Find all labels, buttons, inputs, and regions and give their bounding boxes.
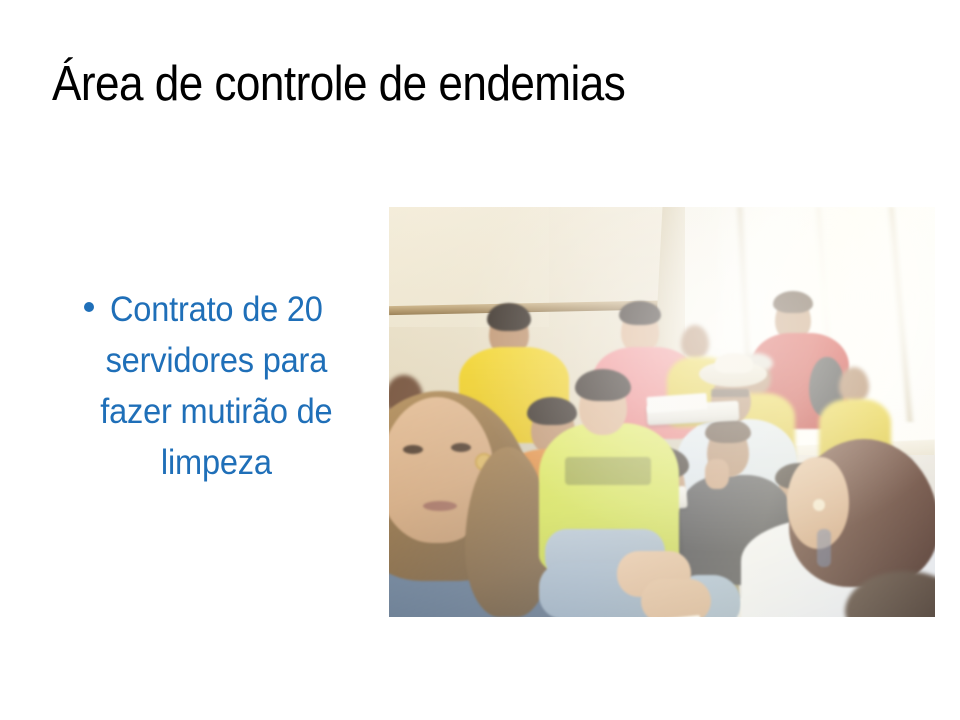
person-hair	[773, 291, 813, 313]
eyeglasses	[711, 389, 749, 397]
person-hair	[575, 369, 631, 401]
person-mouth	[423, 501, 457, 511]
person-eye	[403, 445, 423, 454]
earring	[813, 499, 825, 511]
person-hair	[705, 419, 751, 443]
person-hair	[527, 397, 577, 425]
person-head	[681, 325, 709, 359]
shirt-graphic	[565, 457, 651, 485]
person-head	[839, 367, 869, 403]
content-placeholder: Contrato de 20 servidores para fazer mut…	[48, 284, 368, 488]
person-hair	[487, 303, 531, 331]
straw-hat-crown	[715, 353, 753, 373]
page-title: Área de controle de endemias	[52, 55, 826, 113]
person-eye	[451, 443, 471, 452]
collar-trim	[817, 529, 831, 567]
bullet-text: Contrato de 20 servidores para fazer mut…	[59, 284, 357, 488]
person-hand	[705, 459, 729, 489]
list-item: Contrato de 20 servidores para fazer mut…	[48, 284, 368, 488]
person-hand	[641, 579, 711, 617]
meeting-room-photo	[389, 207, 935, 617]
presentation-slide: Área de controle de endemias Contrato de…	[0, 0, 960, 720]
